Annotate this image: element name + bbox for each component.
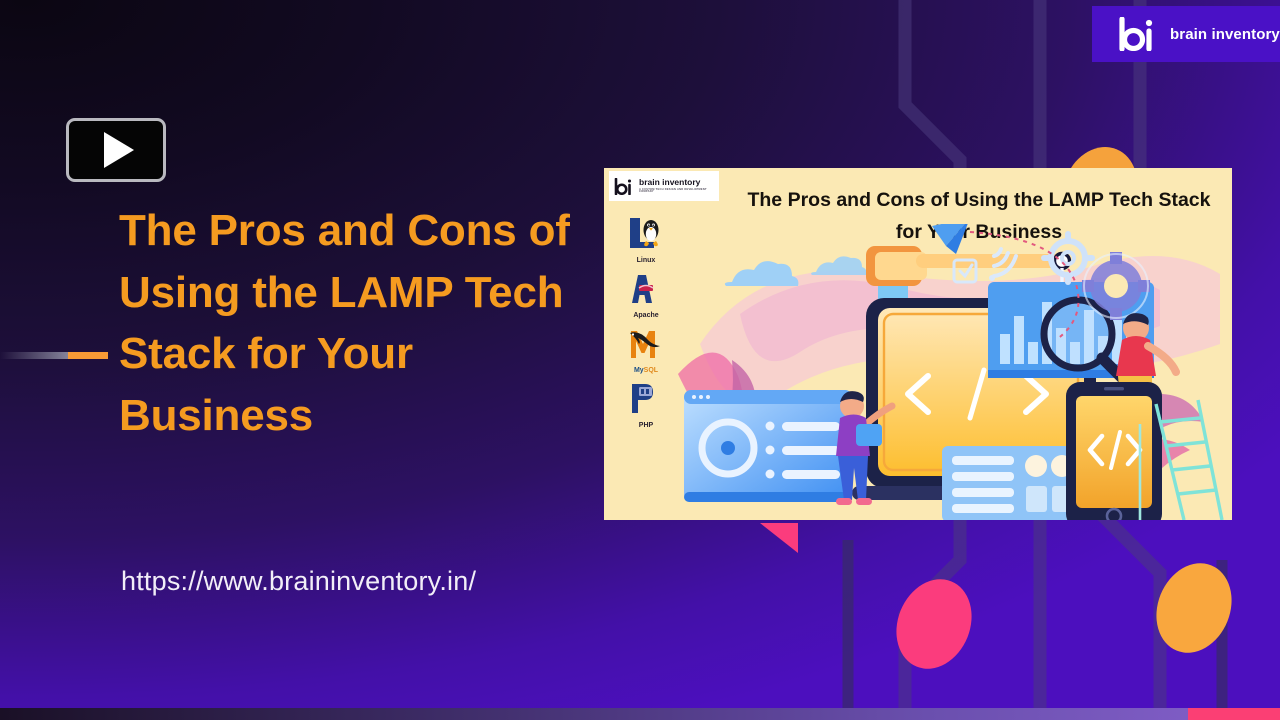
accent-rule-dash xyxy=(68,352,108,359)
brand-name-label: brain inventory xyxy=(1170,26,1280,43)
apache-feather-icon xyxy=(624,292,668,309)
dashboard-panel-icon xyxy=(684,390,852,502)
bi-monogram-icon-small xyxy=(614,178,634,195)
linux-penguin-icon xyxy=(624,237,668,254)
lamp-item-linux: Linux xyxy=(616,216,676,264)
thumbnail-brand-logo: brain inventory A CUSTOM TECH DESIGN AND… xyxy=(609,171,719,201)
paper-plane-icon xyxy=(932,224,970,254)
play-triangle-icon xyxy=(104,132,134,168)
lamp-item-apache: Apache xyxy=(616,271,676,319)
lamp-label-linux: Linux xyxy=(616,257,676,264)
lamp-stack-list: Linux Apache xyxy=(616,216,676,436)
progress-bar-track xyxy=(0,708,1188,720)
thumbnail-illustration xyxy=(670,224,1232,520)
page-title: The Pros and Cons of Using the LAMP Tech… xyxy=(119,200,599,446)
video-thumbnail-card[interactable]: brain inventory A CUSTOM TECH DESIGN AND… xyxy=(604,168,1232,520)
php-elephant-icon xyxy=(624,402,668,419)
bottom-progress-bar[interactable] xyxy=(0,708,1280,720)
slide-canvas: brain inventory The Pros and Cons of Usi… xyxy=(0,0,1280,720)
lamp-label-php: PHP xyxy=(616,422,676,429)
progress-bar-accent xyxy=(1188,708,1280,720)
play-button[interactable] xyxy=(66,118,166,182)
lamp-label-apache: Apache xyxy=(616,312,676,319)
lamp-item-php: PHP xyxy=(616,381,676,429)
smartphone-code-icon xyxy=(1066,382,1162,520)
accent-rule-fade xyxy=(0,352,68,359)
decorative-triangle-pink xyxy=(760,523,798,553)
mysql-dolphin-icon xyxy=(624,347,668,364)
accent-rule xyxy=(0,352,108,359)
thumbnail-brand-name: brain inventory xyxy=(639,178,719,187)
website-url[interactable]: https://www.braininventory.in/ xyxy=(121,566,476,597)
lamp-item-mysql: MySQL xyxy=(616,326,676,374)
bi-monogram-icon xyxy=(1118,17,1158,51)
thumbnail-brand-tagline: A CUSTOM TECH DESIGN AND DEVELOPMENT COM… xyxy=(639,189,719,194)
lamp-label-mysql: MySQL xyxy=(616,367,676,374)
brand-logo-badge: brain inventory xyxy=(1092,6,1280,62)
